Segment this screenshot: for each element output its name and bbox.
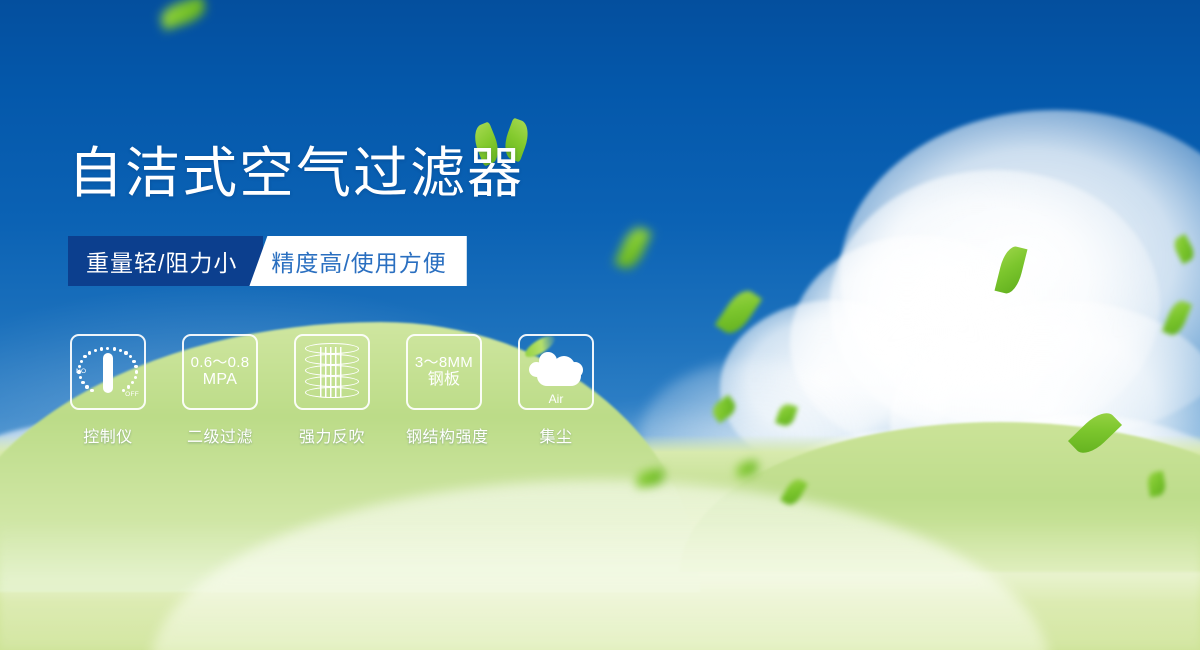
feature-caption: 控制仪 (70, 423, 146, 447)
air-cloud-label: Air (527, 392, 585, 406)
gauge-label-no: NO (76, 368, 86, 375)
feature-caption: 集尘 (518, 423, 594, 447)
product-hero-banner: 自洁式空气过滤器 重量轻/阻力小 精度高/使用方便 (0, 0, 1200, 650)
feature-caption: 二级过滤 (182, 423, 258, 447)
air-cloud-body (537, 366, 581, 386)
filter-stack-icon (305, 343, 359, 401)
grass-sheen (0, 520, 1200, 650)
page-title: 自洁式空气过滤器 (68, 146, 524, 201)
feature-icon-box: NO OFF (70, 334, 146, 410)
gauge-needle-icon (103, 353, 113, 393)
feature-caption: 钢结构强度 (406, 423, 482, 447)
feature-list: NO OFF 控制仪 0.6～0.8 MPA 二级过滤 (70, 334, 594, 447)
feature-item-dust-collection[interactable]: Air 集尘 (518, 334, 594, 447)
tagline-badge: 重量轻/阻力小 精度高/使用方便 (68, 236, 467, 286)
steel-line-1: 3～8MM (415, 354, 473, 372)
feature-icon-box: 0.6～0.8 MPA (182, 334, 258, 410)
pressure-line-2: MPA (191, 371, 250, 390)
steel-text-icon: 3～8MM 钢板 (415, 354, 473, 391)
pressure-text-icon: 0.6～0.8 MPA (191, 354, 250, 391)
pressure-line-1: 0.6～0.8 (191, 354, 250, 372)
feature-icon-box: 3～8MM 钢板 (406, 334, 482, 410)
air-cloud-icon: Air (527, 348, 585, 394)
steel-line-2: 钢板 (415, 371, 473, 390)
feature-icon-box (294, 334, 370, 410)
feature-item-strong-blowback[interactable]: 强力反吹 (294, 334, 370, 447)
feature-item-steel-strength[interactable]: 3～8MM 钢板 钢结构强度 (406, 334, 482, 447)
feature-icon-box: Air (518, 334, 594, 410)
feature-caption: 强力反吹 (294, 423, 370, 447)
feature-item-secondary-filtration[interactable]: 0.6～0.8 MPA 二级过滤 (182, 334, 258, 447)
gauge-icon: NO OFF (76, 341, 140, 403)
feature-item-controller[interactable]: NO OFF 控制仪 (70, 334, 146, 447)
tagline-badge-right: 精度高/使用方便 (249, 236, 466, 286)
tagline-badge-left: 重量轻/阻力小 (68, 236, 263, 286)
gauge-label-off: OFF (125, 391, 139, 398)
